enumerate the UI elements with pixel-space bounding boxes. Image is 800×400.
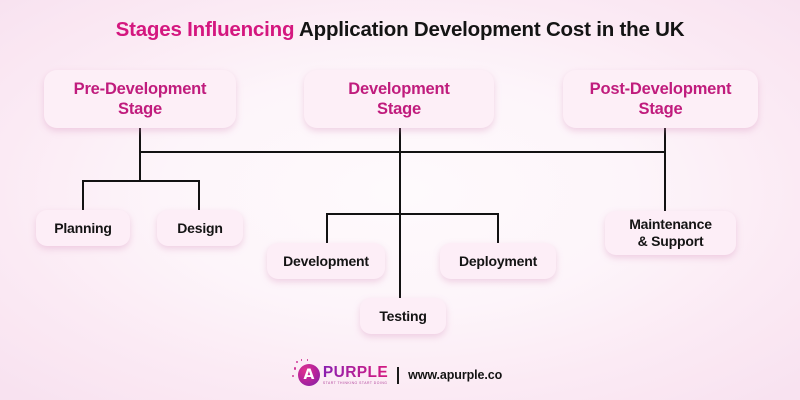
connector-design <box>198 180 200 211</box>
connector-dev-drop <box>399 128 401 214</box>
title-highlight: Stages Influencing <box>116 18 295 41</box>
connector-testing <box>399 213 401 299</box>
connector-pre-drop <box>139 128 141 181</box>
connector-dev-bar <box>326 213 499 215</box>
node-label: Development <box>283 253 369 270</box>
node-label: Maintenance & Support <box>629 216 712 250</box>
infographic-canvas: Stages Influencing Application Developme… <box>0 0 800 400</box>
node-label: Deployment <box>459 253 537 270</box>
connector-pre-bar <box>82 180 199 182</box>
stage-box-post-development[interactable]: Post-Development Stage <box>563 70 758 128</box>
node-label: Planning <box>54 220 112 237</box>
stage-label: Development Stage <box>348 79 449 119</box>
node-box-design[interactable]: Design <box>157 210 243 246</box>
stage-label: Pre-Development Stage <box>74 79 207 119</box>
node-label: Testing <box>379 308 426 325</box>
apurple-logo[interactable]: A PURPLE START THINKING START DOING <box>298 364 388 386</box>
title-rest: Application Development Cost in the UK <box>299 18 684 41</box>
node-box-deployment[interactable]: Deployment <box>440 243 556 279</box>
connector-planning <box>82 180 84 211</box>
node-box-development[interactable]: Development <box>267 243 385 279</box>
stage-box-pre-development[interactable]: Pre-Development Stage <box>44 70 236 128</box>
page-title: Stages Influencing Application Developme… <box>0 18 800 42</box>
connector-deployment <box>497 213 499 244</box>
logo-tagline: START THINKING START DOING <box>323 382 388 385</box>
connector-development <box>326 213 328 244</box>
footer: A PURPLE START THINKING START DOING www.… <box>0 364 800 386</box>
logo-letter: A <box>303 368 314 382</box>
logo-name: PURPLE <box>323 365 388 381</box>
node-box-maintenance-support[interactable]: Maintenance & Support <box>605 211 736 255</box>
connector-post-drop <box>664 128 666 212</box>
logo-badge-icon: A <box>298 364 320 386</box>
stage-label: Post-Development Stage <box>590 79 732 119</box>
node-box-planning[interactable]: Planning <box>36 210 130 246</box>
node-box-testing[interactable]: Testing <box>360 298 446 334</box>
node-label: Design <box>177 220 222 237</box>
website-url[interactable]: www.apurple.co <box>408 368 502 382</box>
connector-main-spine <box>139 151 666 153</box>
stage-box-development[interactable]: Development Stage <box>304 70 494 128</box>
logo-wordmark: PURPLE START THINKING START DOING <box>323 365 388 385</box>
footer-divider <box>397 367 399 384</box>
